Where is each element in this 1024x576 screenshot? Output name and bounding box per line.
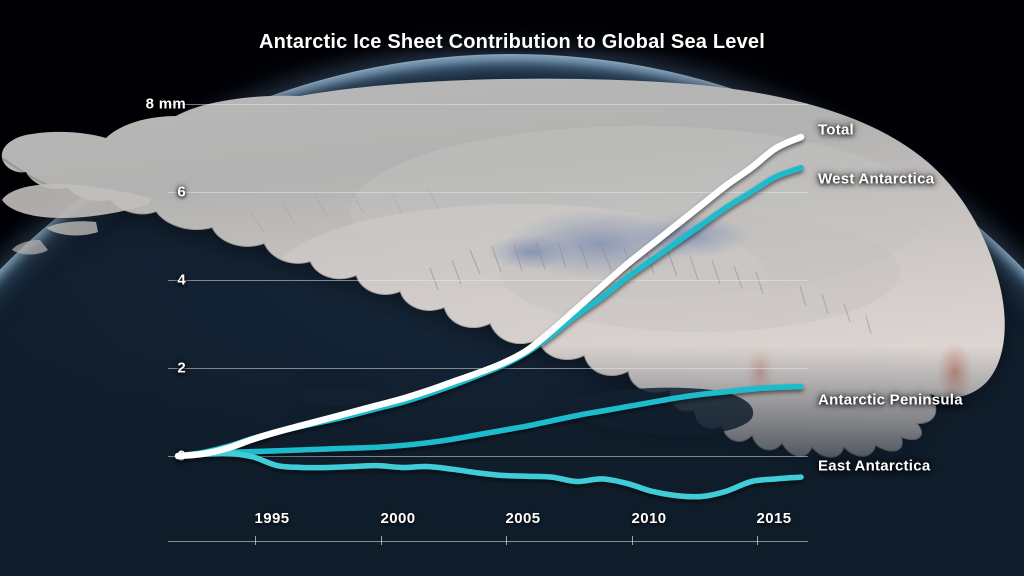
series-label-total: Total (818, 122, 854, 139)
series-label-east-antarctica: East Antarctica (818, 458, 930, 475)
visualization-canvas: 8 mm 6 4 2 0 1995 2000 2005 2010 2015 To… (0, 0, 1024, 576)
series-label-west-antarctica: West Antarctica (818, 171, 934, 188)
page-title: Antarctic Ice Sheet Contribution to Glob… (0, 31, 1024, 54)
series-label-antarctic-peninsula: Antarctic Peninsula (818, 392, 963, 409)
